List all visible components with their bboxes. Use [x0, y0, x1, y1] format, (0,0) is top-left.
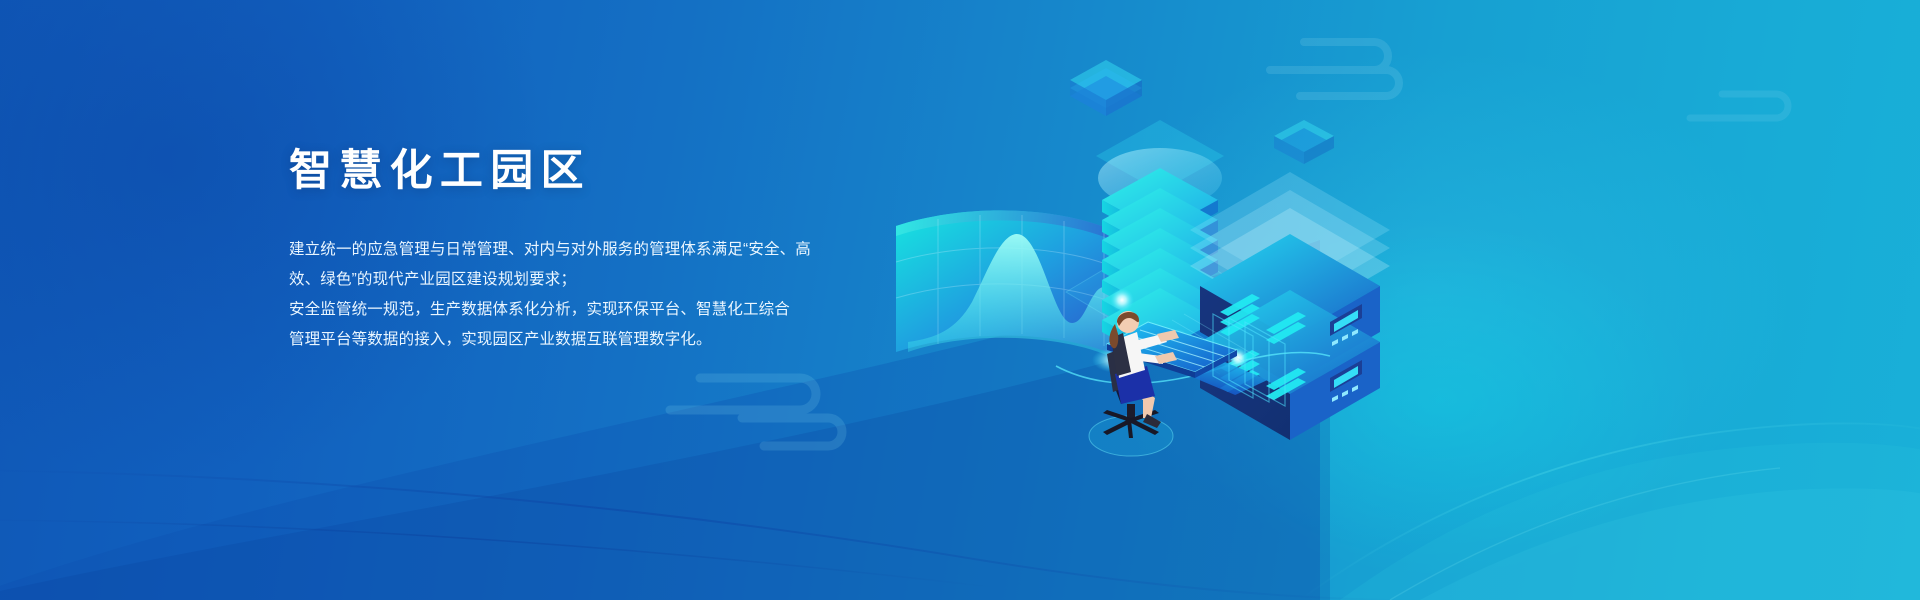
ponytail — [1109, 324, 1118, 348]
description-line-1: 建立统一的应急管理与日常管理、对内与对外服务的管理体系满足“安全、高 — [289, 235, 889, 265]
hero-banner: 智慧化工园区 建立统一的应急管理与日常管理、对内与对外服务的管理体系满足“安全、… — [0, 0, 1920, 600]
cloud-shape-far-right — [1690, 94, 1788, 118]
hero-description: 建立统一的应急管理与日常管理、对内与对外服务的管理体系满足“安全、高 效、绿色”… — [289, 235, 889, 355]
hero-copy: 智慧化工园区 建立统一的应急管理与日常管理、对内与对外服务的管理体系满足“安全、… — [289, 148, 889, 355]
description-line-3: 安全监管统一规范，生产数据体系化分析，实现环保平台、智慧化工综合 — [289, 295, 889, 325]
floating-cube-stack-secondary — [1274, 120, 1334, 164]
description-line-4: 管理平台等数据的接入，实现园区产业数据互联管理数字化。 — [289, 325, 889, 355]
page-title: 智慧化工园区 — [289, 148, 889, 195]
floating-cube-stack — [1070, 60, 1142, 116]
person-at-holographic-keyboard — [1085, 300, 1315, 460]
description-line-2: 效、绿色”的现代产业园区建设规划要求； — [289, 265, 889, 295]
